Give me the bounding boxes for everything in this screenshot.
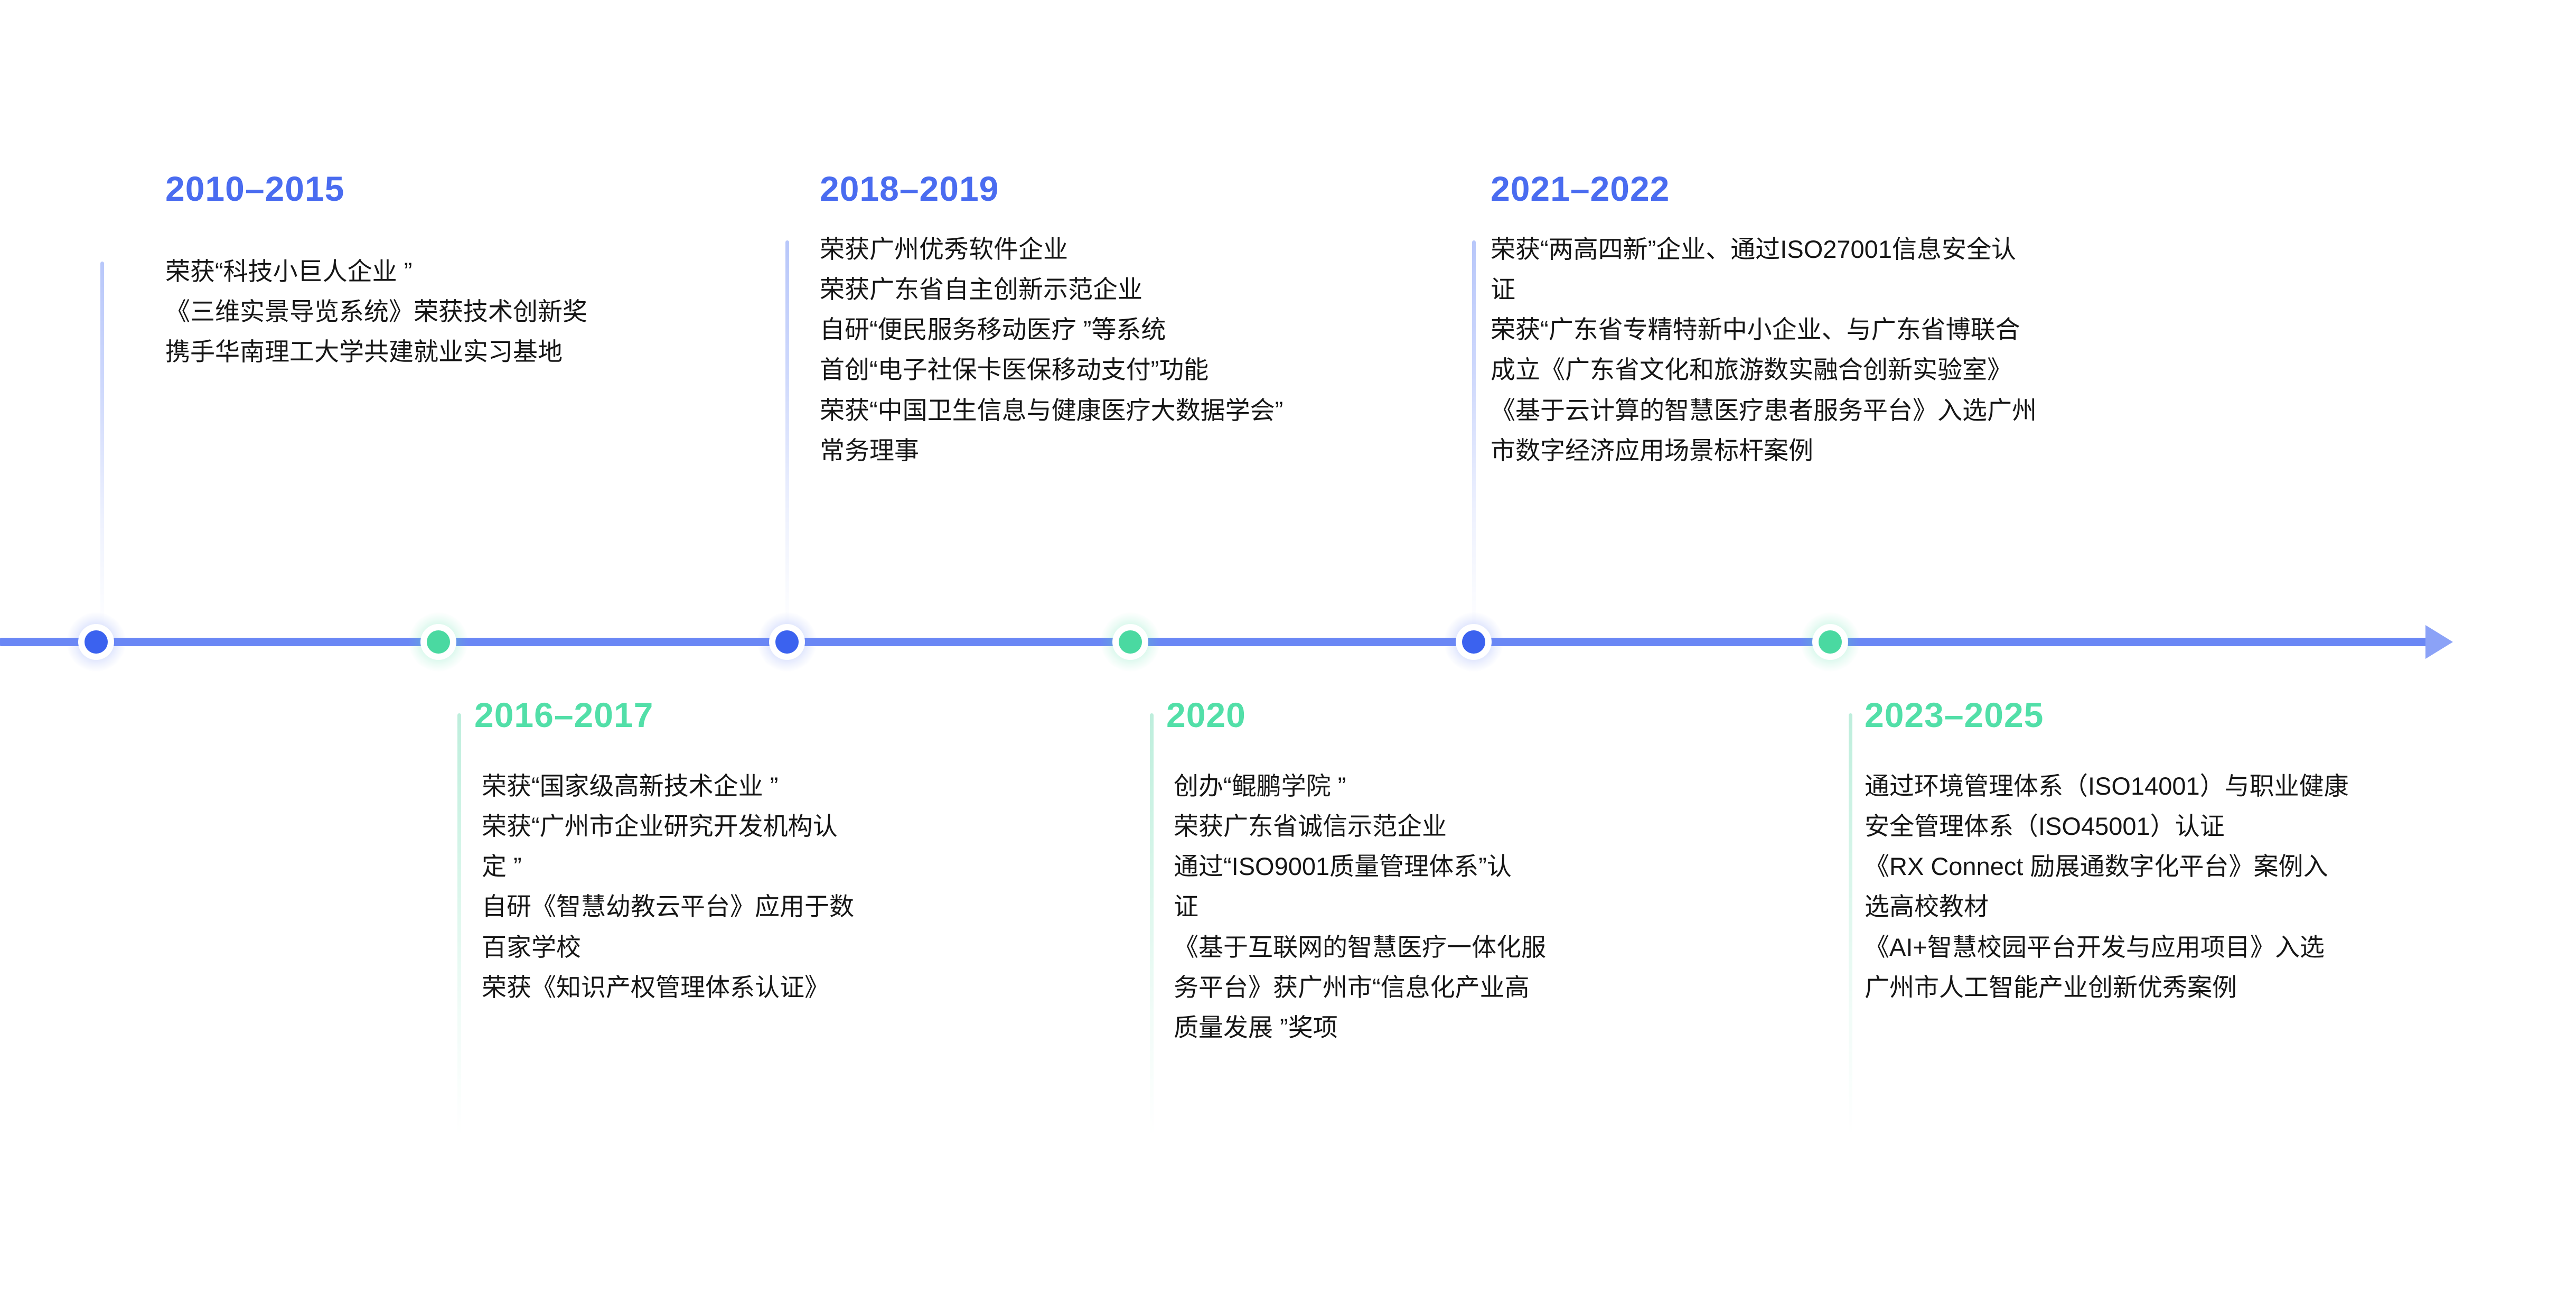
timeline-axis-line (0, 638, 2435, 646)
entry-body-2020: 创办“鲲鹏学院 ” 荣获广东省诚信示范企业 通过“ISO9001质量管理体系”认… (1166, 766, 1726, 1048)
entry-body-2023-2025: 通过环境管理体系（ISO14001）与职业健康 安全管理体系（ISO45001）… (1865, 766, 2551, 1008)
entry-line: 《基于云计算的智慧医疗患者服务平台》入选广州 (1491, 390, 2420, 431)
entry-line: 携手华南理工大学共建就业实习基地 (165, 332, 773, 372)
entry-body-2018-2019: 荣获广州优秀软件企业 荣获广东省自主创新示范企业 自研“便民服务移动医疗 ”等系… (820, 229, 1491, 471)
entry-line: 证 (1174, 887, 1726, 927)
dot-core (85, 630, 108, 654)
entry-line: 荣获广东省诚信示范企业 (1174, 806, 1726, 846)
timeline-dot-2021-2022[interactable] (1444, 612, 1503, 672)
dot-core (775, 630, 799, 654)
entry-line: 荣获广州优秀软件企业 (820, 229, 1491, 269)
connector-line-2010-2015 (100, 262, 104, 631)
entry-title-2020: 2020 (1166, 697, 1726, 732)
entry-line: 选高校教材 (1865, 887, 2551, 927)
entry-line: 荣获《知识产权管理体系认证》 (482, 967, 1055, 1008)
entry-line: 自研“便民服务移动医疗 ”等系统 (820, 310, 1491, 350)
entry-line: 质量发展 ”奖项 (1174, 1008, 1726, 1048)
entry-line: 《三维实景导览系统》荣获技术创新奖 (165, 292, 773, 332)
timeline-dot-2023-2025[interactable] (1801, 612, 1860, 672)
entry-line: 荣获“国家级高新技术企业 ” (482, 766, 1055, 806)
connector-line-2023-2025 (1849, 713, 1852, 1136)
entry-title-2023-2025: 2023–2025 (1865, 697, 2551, 732)
entry-line: 首创“电子社保卡医保移动支付”功能 (820, 350, 1491, 390)
entry-line: 荣获“中国卫生信息与健康医疗大数据学会” (820, 390, 1491, 431)
entry-line: 务平台》获广州市“信息化产业高 (1174, 967, 1726, 1008)
timeline-entry-2010-2015[interactable]: 2010–2015 荣获“科技小巨人企业 ” 《三维实景导览系统》荣获技术创新奖… (165, 171, 773, 372)
timeline-dot-2020[interactable] (1101, 612, 1160, 672)
connector-line-2020 (1150, 713, 1154, 1136)
entry-title-2016-2017: 2016–2017 (474, 697, 1055, 732)
entry-line: 荣获“广东省专精特新中小企业、与广东省博联合 (1491, 310, 2420, 350)
entry-line: 百家学校 (482, 927, 1055, 967)
entry-title-2021-2022: 2021–2022 (1491, 171, 2420, 206)
timeline-infographic: 2010–2015 荣获“科技小巨人企业 ” 《三维实景导览系统》荣获技术创新奖… (0, 0, 2576, 1313)
timeline-entry-2016-2017[interactable]: 2016–2017 荣获“国家级高新技术企业 ” 荣获“广州市企业研究开发机构认… (474, 697, 1055, 1008)
dot-core (427, 630, 450, 654)
entry-line: 通过环境管理体系（ISO14001）与职业健康 (1865, 766, 2551, 806)
timeline-entry-2020[interactable]: 2020 创办“鲲鹏学院 ” 荣获广东省诚信示范企业 通过“ISO9001质量管… (1166, 697, 1726, 1048)
entry-body-2010-2015: 荣获“科技小巨人企业 ” 《三维实景导览系统》荣获技术创新奖 携手华南理工大学共… (165, 252, 773, 372)
timeline-entry-2023-2025[interactable]: 2023–2025 通过环境管理体系（ISO14001）与职业健康 安全管理体系… (1865, 697, 2551, 1008)
entry-line: 创办“鲲鹏学院 ” (1174, 766, 1726, 806)
connector-line-2016-2017 (457, 713, 461, 1136)
entry-title-2010-2015: 2010–2015 (165, 171, 773, 206)
entry-line: 自研《智慧幼教云平台》应用于数 (482, 887, 1055, 927)
entry-line: 通过“ISO9001质量管理体系”认 (1174, 846, 1726, 887)
entry-line: 市数字经济应用场景标杆案例 (1491, 431, 2420, 471)
entry-line: 常务理事 (820, 431, 1491, 471)
dot-core (1819, 630, 1842, 654)
entry-line: 荣获“科技小巨人企业 ” (165, 252, 773, 292)
entry-line: 荣获广东省自主创新示范企业 (820, 269, 1491, 310)
entry-line: 荣获“广州市企业研究开发机构认 (482, 806, 1055, 846)
dot-core (1462, 630, 1485, 654)
entry-line: 《AI+智慧校园平台开发与应用项目》入选 (1865, 927, 2551, 967)
timeline-dot-2018-2019[interactable] (757, 612, 817, 672)
entry-line: 证 (1491, 269, 2420, 310)
entry-body-2016-2017: 荣获“国家级高新技术企业 ” 荣获“广州市企业研究开发机构认 定 ” 自研《智慧… (474, 766, 1055, 1008)
entry-line: 广州市人工智能产业创新优秀案例 (1865, 967, 2551, 1008)
timeline-arrow-icon (2425, 625, 2453, 659)
entry-line: 成立《广东省文化和旅游数实融合创新实验室》 (1491, 350, 2420, 390)
connector-line-2018-2019 (785, 240, 789, 631)
entry-title-2018-2019: 2018–2019 (820, 171, 1491, 206)
timeline-dot-2010-2015[interactable] (67, 612, 126, 672)
entry-line: 《基于互联网的智慧医疗一体化服 (1174, 927, 1726, 967)
entry-line: 荣获“两高四新”企业、通过ISO27001信息安全认 (1491, 229, 2420, 269)
entry-line: 安全管理体系（ISO45001）认证 (1865, 806, 2551, 846)
dot-core (1119, 630, 1142, 654)
entry-body-2021-2022: 荣获“两高四新”企业、通过ISO27001信息安全认 证 荣获“广东省专精特新中… (1491, 229, 2420, 471)
timeline-entry-2021-2022[interactable]: 2021–2022 荣获“两高四新”企业、通过ISO27001信息安全认 证 荣… (1491, 171, 2420, 471)
entry-line: 《RX Connect 励展通数字化平台》案例入 (1865, 846, 2551, 887)
timeline-dot-2016-2017[interactable] (409, 612, 468, 672)
entry-line: 定 ” (482, 846, 1055, 887)
timeline-entry-2018-2019[interactable]: 2018–2019 荣获广州优秀软件企业 荣获广东省自主创新示范企业 自研“便民… (820, 171, 1491, 471)
